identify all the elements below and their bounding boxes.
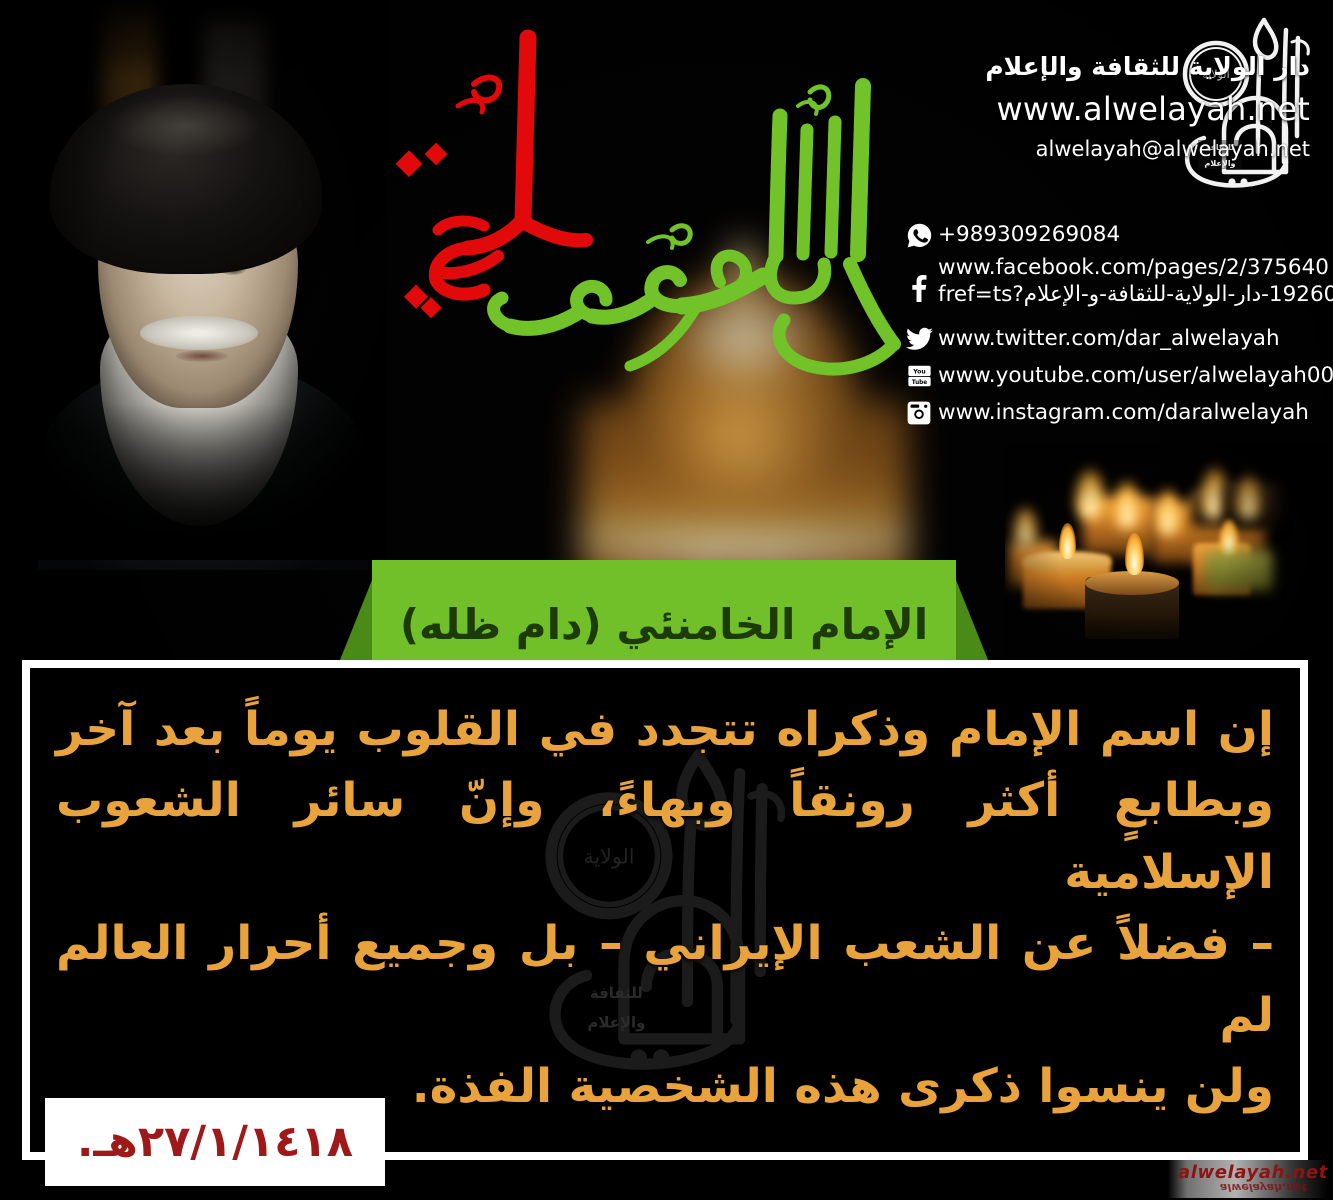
quote-line-2: وبطابعٍ أكثر رونقاً وبهاءً، وإنّ سائر ال… xyxy=(56,765,1274,908)
twitter-url[interactable]: www.twitter.com/dar_alwelayah xyxy=(938,326,1280,353)
social-row-facebook[interactable]: www.facebook.com/pages/2/375640 ‏1926000… xyxy=(900,255,1320,319)
twitter-icon xyxy=(900,322,938,356)
imam-khomeini-portrait xyxy=(14,0,386,560)
quote-frame: للثقافة والإعلام الولاية إن اسم الإمام و… xyxy=(22,660,1308,1160)
candles-photo xyxy=(1005,445,1333,660)
portrait-edge-fade xyxy=(14,0,386,560)
youtube-icon: You Tube xyxy=(900,359,938,393)
whatsapp-icon xyxy=(900,218,938,252)
header-info-block: دار الولاية للثقافة والإعلام www.alwelay… xyxy=(890,52,1310,161)
facebook-url-line-1[interactable]: www.facebook.com/pages/2/375640 xyxy=(938,255,1333,282)
hijri-date-box: ٢٧/١/١٤١٨هـ. xyxy=(45,1098,385,1186)
quote-text-block: إن اسم الإمام وذكراه تتجدد في القلوب يوم… xyxy=(56,694,1274,1123)
site-watermark: alwelayah.net alwelayah.net xyxy=(1168,1160,1328,1198)
quote-line-3: – فضلاً عن الشعب الإيراني – بل وجميع أحر… xyxy=(56,908,1274,1051)
facebook-icon xyxy=(900,255,938,319)
svg-text:You: You xyxy=(912,369,925,376)
poster-root: للثقافة والإعلام الولاية دار الولاية للث… xyxy=(0,0,1333,1200)
quote-line-1: إن اسم الإمام وذكراه تتجدد في القلوب يوم… xyxy=(56,694,1274,765)
candles-edge-fade xyxy=(1005,445,1333,660)
social-row-youtube[interactable]: You Tube www.youtube.com/user/alwelayah0… xyxy=(900,359,1320,393)
facebook-url-line-2[interactable]: ‏192600038-دار-الولاية-للثقافة-و-الإعلام… xyxy=(938,282,1333,309)
site-watermark-text: alwelayah.net xyxy=(1178,1162,1328,1183)
instagram-url[interactable]: www.instagram.com/daralwelayah xyxy=(938,400,1309,427)
site-watermark-reflection: alwelayah.net xyxy=(1220,1181,1307,1194)
social-row-twitter[interactable]: www.twitter.com/dar_alwelayah xyxy=(900,322,1320,356)
youtube-url[interactable]: www.youtube.com/user/alwelayah00 xyxy=(938,363,1333,390)
email-address[interactable]: alwelayah@alwelayah.net xyxy=(890,137,1310,161)
social-links-list: +989309269084 www.facebook.com/pages/2/3… xyxy=(900,218,1320,433)
svg-text:Tube: Tube xyxy=(911,380,927,386)
social-row-whatsapp[interactable]: +989309269084 xyxy=(900,218,1320,252)
hijri-date-text: ٢٧/١/١٤١٨هـ. xyxy=(77,1117,353,1167)
instagram-icon xyxy=(900,396,938,430)
banner-title-text: الإمام الخامنئي (دام ظله) xyxy=(400,604,928,646)
organization-name: دار الولاية للثقافة والإعلام xyxy=(890,52,1310,82)
website-url[interactable]: www.alwelayah.net xyxy=(890,90,1310,128)
social-row-instagram[interactable]: www.instagram.com/daralwelayah xyxy=(900,396,1320,430)
whatsapp-number[interactable]: +989309269084 xyxy=(938,222,1120,249)
